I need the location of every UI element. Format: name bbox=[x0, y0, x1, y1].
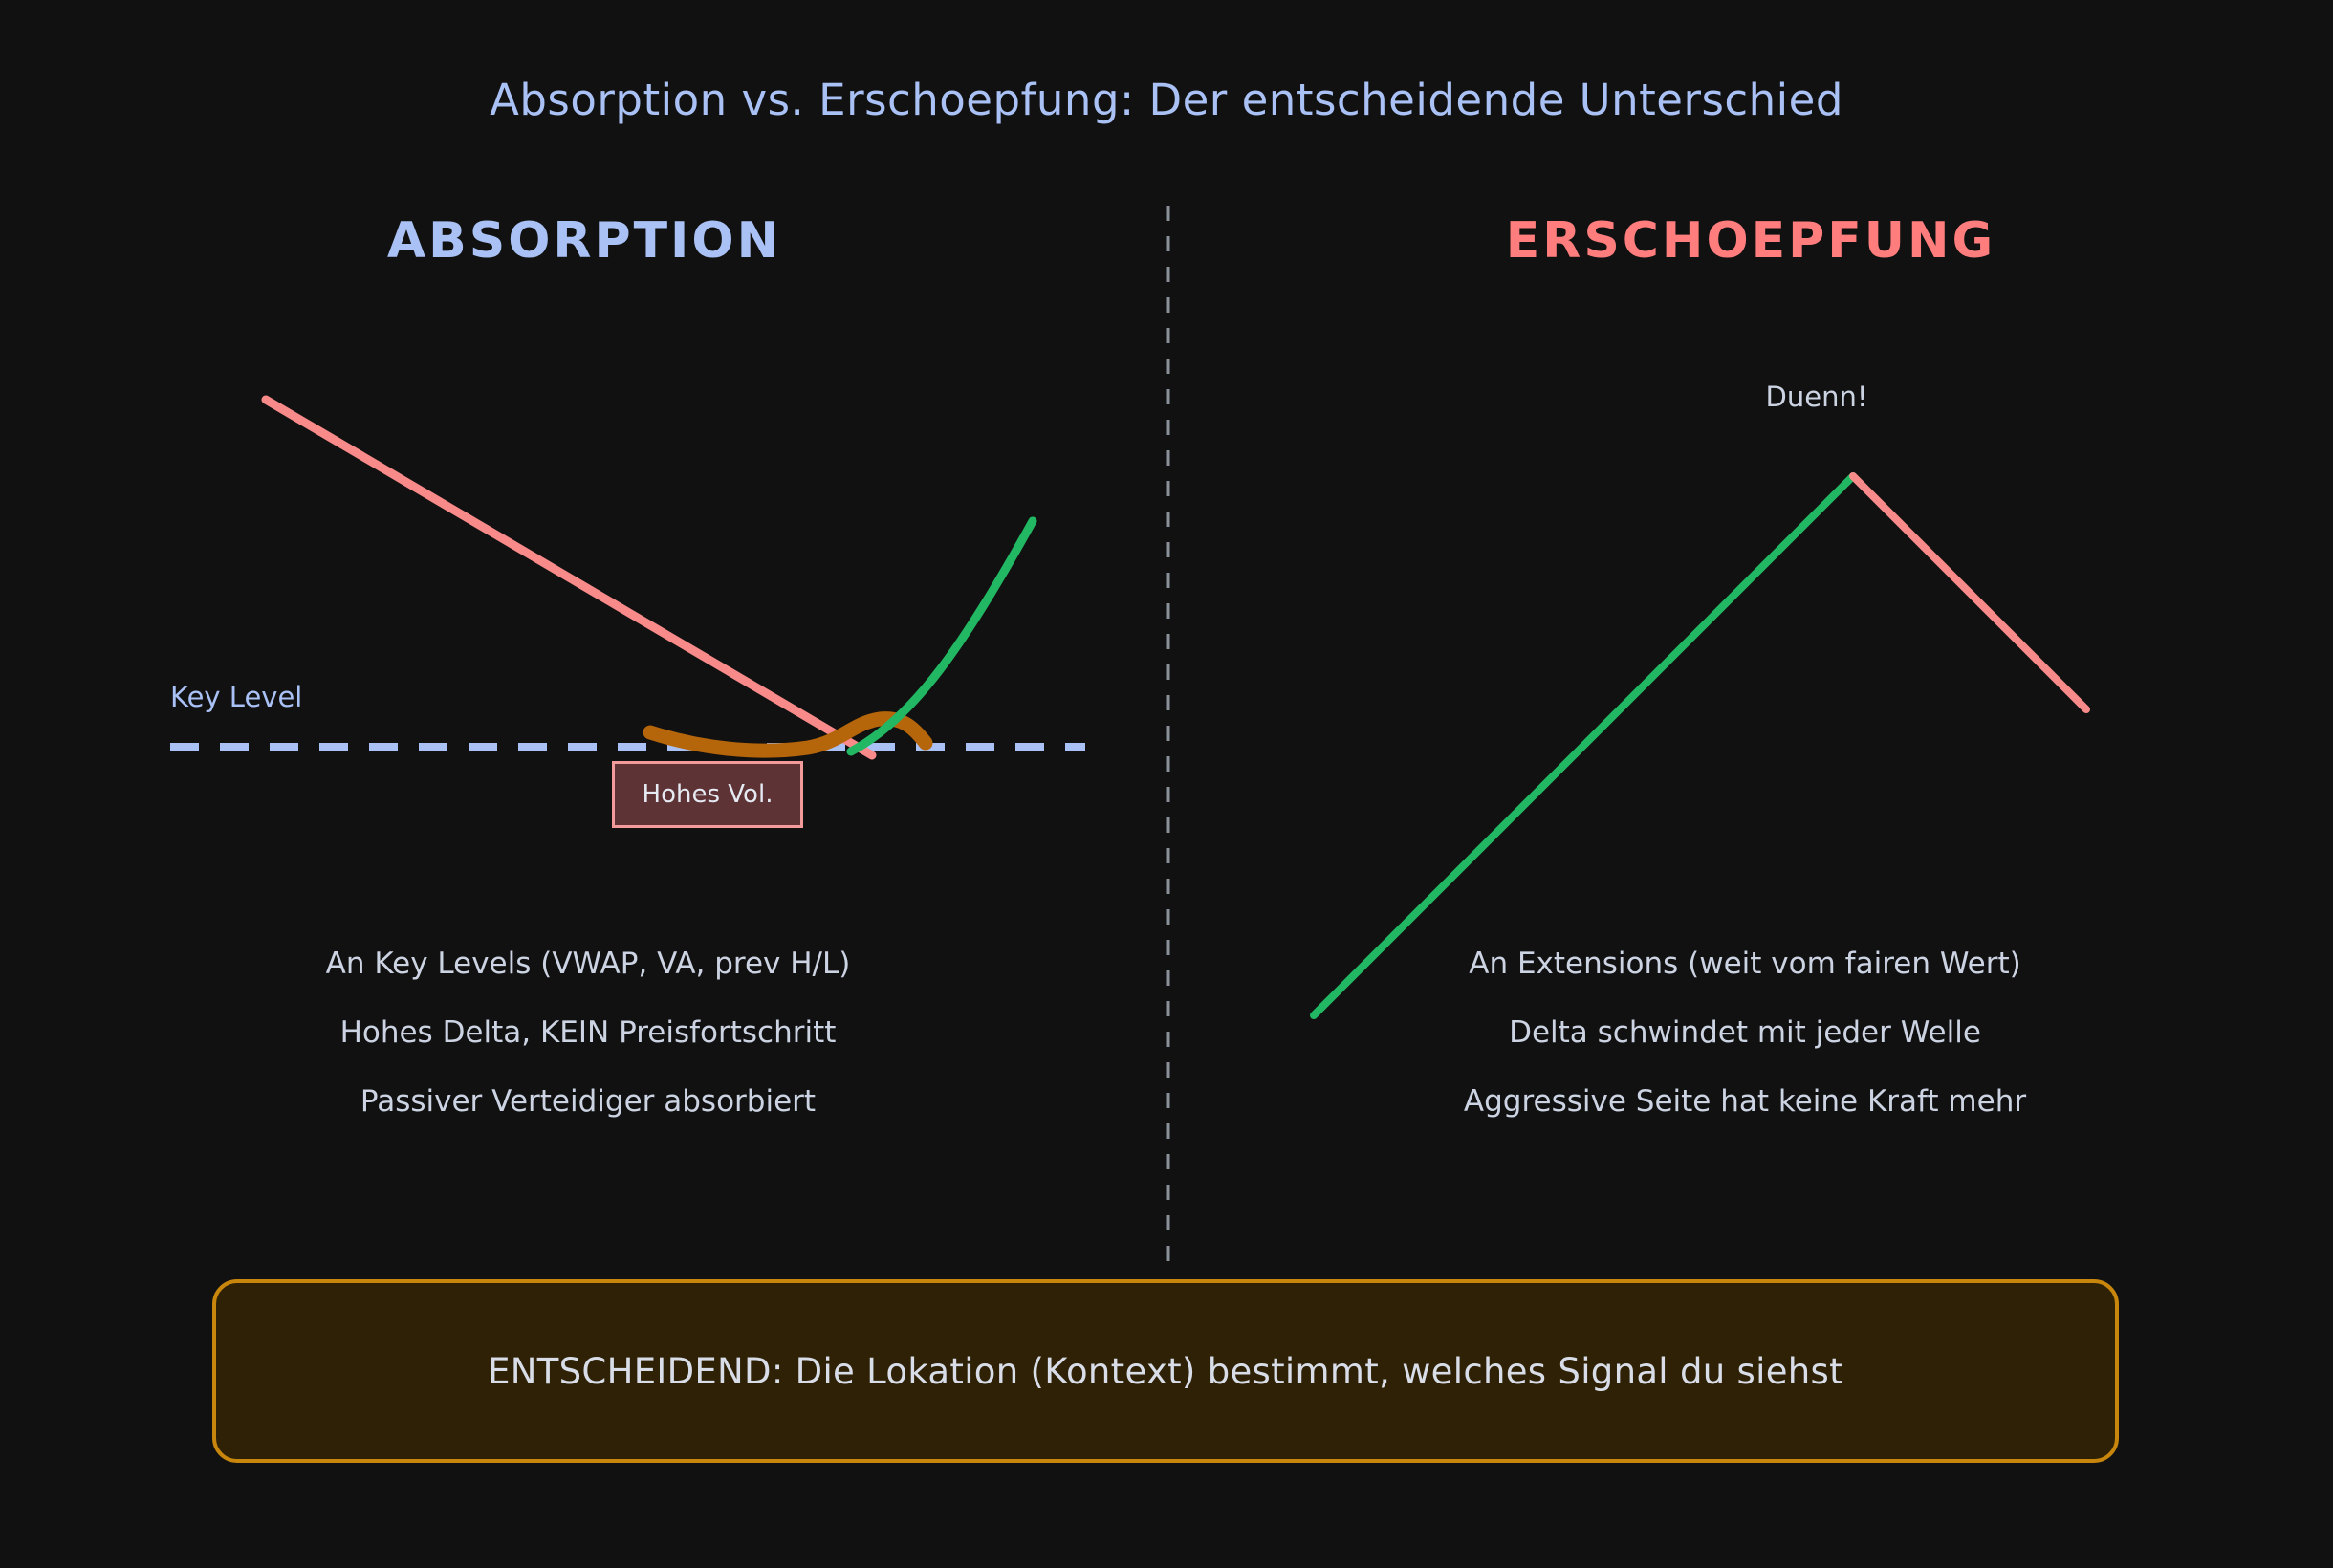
high-volume-callout-label: Hohes Vol. bbox=[643, 780, 774, 809]
erschoepfung-bullet-list: An Extensions (weit vom fairen Wert) Del… bbox=[1214, 929, 2276, 1136]
absorption-up-line bbox=[851, 521, 1033, 751]
list-item: Passiver Verteidiger absorbiert bbox=[57, 1067, 1119, 1136]
thin-liquidity-label: Duenn! bbox=[1625, 381, 2008, 413]
exhaustion-down-line bbox=[1853, 476, 2086, 709]
list-item: An Key Levels (VWAP, VA, prev H/L) bbox=[57, 929, 1119, 998]
list-item: Aggressive Seite hat keine Kraft mehr bbox=[1214, 1067, 2276, 1136]
list-item: Delta schwindet mit jeder Welle bbox=[1214, 998, 2276, 1067]
absorption-down-line bbox=[266, 400, 872, 755]
key-level-label: Key Level bbox=[170, 681, 302, 713]
list-item: An Extensions (weit vom fairen Wert) bbox=[1214, 929, 2276, 998]
absorption-bullet-list: An Key Levels (VWAP, VA, prev H/L) Hohes… bbox=[57, 929, 1119, 1136]
conclusion-banner: ENTSCHEIDEND: Die Lokation (Kontext) bes… bbox=[212, 1279, 2119, 1463]
infographic-canvas: Absorption vs. Erschoepfung: Der entsche… bbox=[0, 0, 2333, 1568]
high-volume-callout: Hohes Vol. bbox=[612, 761, 803, 828]
conclusion-banner-text: ENTSCHEIDEND: Die Lokation (Kontext) bes… bbox=[488, 1351, 1843, 1392]
column-heading-erschoepfung: ERSCHOEPFUNG bbox=[1168, 212, 2333, 270]
page-title: Absorption vs. Erschoepfung: Der entsche… bbox=[0, 75, 2333, 125]
absorption-squiggle bbox=[650, 719, 926, 751]
list-item: Hohes Delta, KEIN Preisfortschritt bbox=[57, 998, 1119, 1067]
column-heading-absorption: ABSORPTION bbox=[0, 212, 1168, 270]
